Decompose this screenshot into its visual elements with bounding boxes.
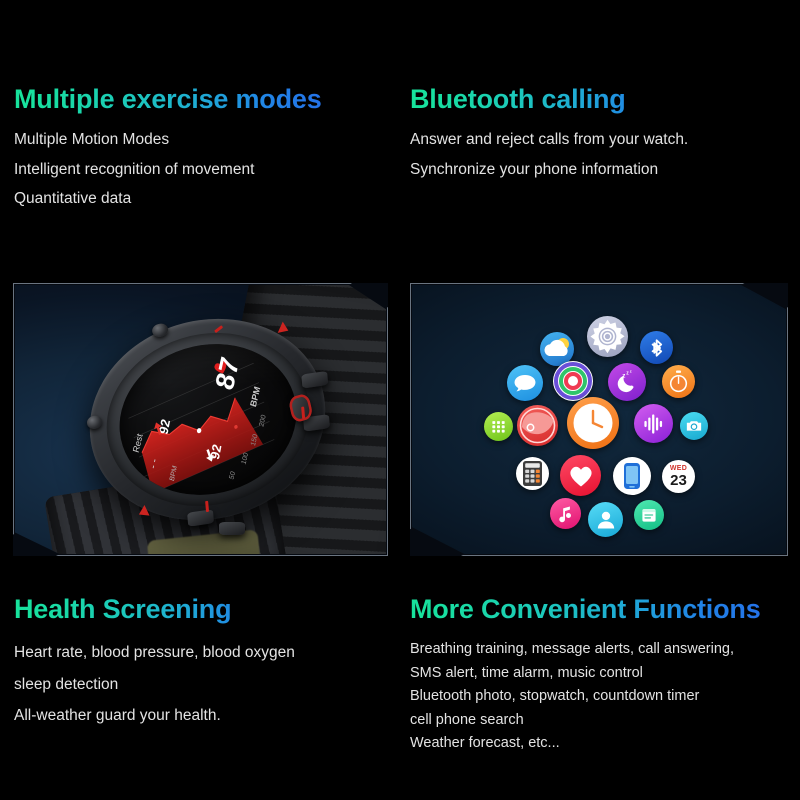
body-line: cell phone search bbox=[410, 713, 761, 728]
heading-health-screening: Health Screening bbox=[14, 594, 295, 625]
body-line: sleep detection bbox=[14, 677, 295, 693]
body-line: Heart rate, blood pressure, blood oxygen bbox=[14, 645, 295, 661]
app-grid-panel-frame bbox=[410, 283, 788, 556]
body-line: All-weather guard your health. bbox=[14, 708, 295, 724]
feature-block-bluetooth-calling: Bluetooth calling Answer and reject call… bbox=[410, 84, 688, 191]
body-bluetooth-calling: Answer and reject calls from your watch.… bbox=[410, 132, 688, 177]
body-health-screening: Heart rate, blood pressure, blood oxygen… bbox=[14, 645, 295, 724]
body-line: Answer and reject calls from your watch. bbox=[410, 132, 688, 148]
body-more-functions: Breathing training, message alerts, call… bbox=[410, 642, 761, 751]
body-line: SMS alert, time alarm, music control bbox=[410, 666, 761, 681]
watch-panel-frame bbox=[13, 283, 388, 556]
body-line: Quantitative data bbox=[14, 191, 322, 207]
app-grid-panel: z z z bbox=[410, 283, 788, 556]
feature-block-more-functions: More Convenient Functions Breathing trai… bbox=[410, 594, 761, 760]
body-line: Breathing training, message alerts, call… bbox=[410, 642, 761, 657]
feature-block-exercise-modes: Multiple exercise modes Multiple Motion … bbox=[14, 84, 322, 221]
body-line: Intelligent recognition of movement bbox=[14, 162, 322, 178]
body-line: Bluetooth photo, stopwatch, countdown ti… bbox=[410, 689, 761, 704]
heading-more-functions: More Convenient Functions bbox=[410, 594, 761, 625]
body-line: Synchronize your phone information bbox=[410, 162, 688, 178]
body-line: Multiple Motion Modes bbox=[14, 132, 322, 148]
heading-exercise-modes: Multiple exercise modes bbox=[14, 84, 322, 115]
heading-bluetooth-calling: Bluetooth calling bbox=[410, 84, 688, 115]
body-line: Weather forecast, etc... bbox=[410, 736, 761, 751]
watch-photo-panel: 87 BPM 92 92 Rest - - BPM 200 150 100 50 bbox=[13, 283, 388, 556]
feature-block-health-screening: Health Screening Heart rate, blood press… bbox=[14, 594, 295, 740]
promo-page: Multiple exercise modes Multiple Motion … bbox=[0, 0, 800, 800]
body-exercise-modes: Multiple Motion Modes Intelligent recogn… bbox=[14, 132, 322, 207]
